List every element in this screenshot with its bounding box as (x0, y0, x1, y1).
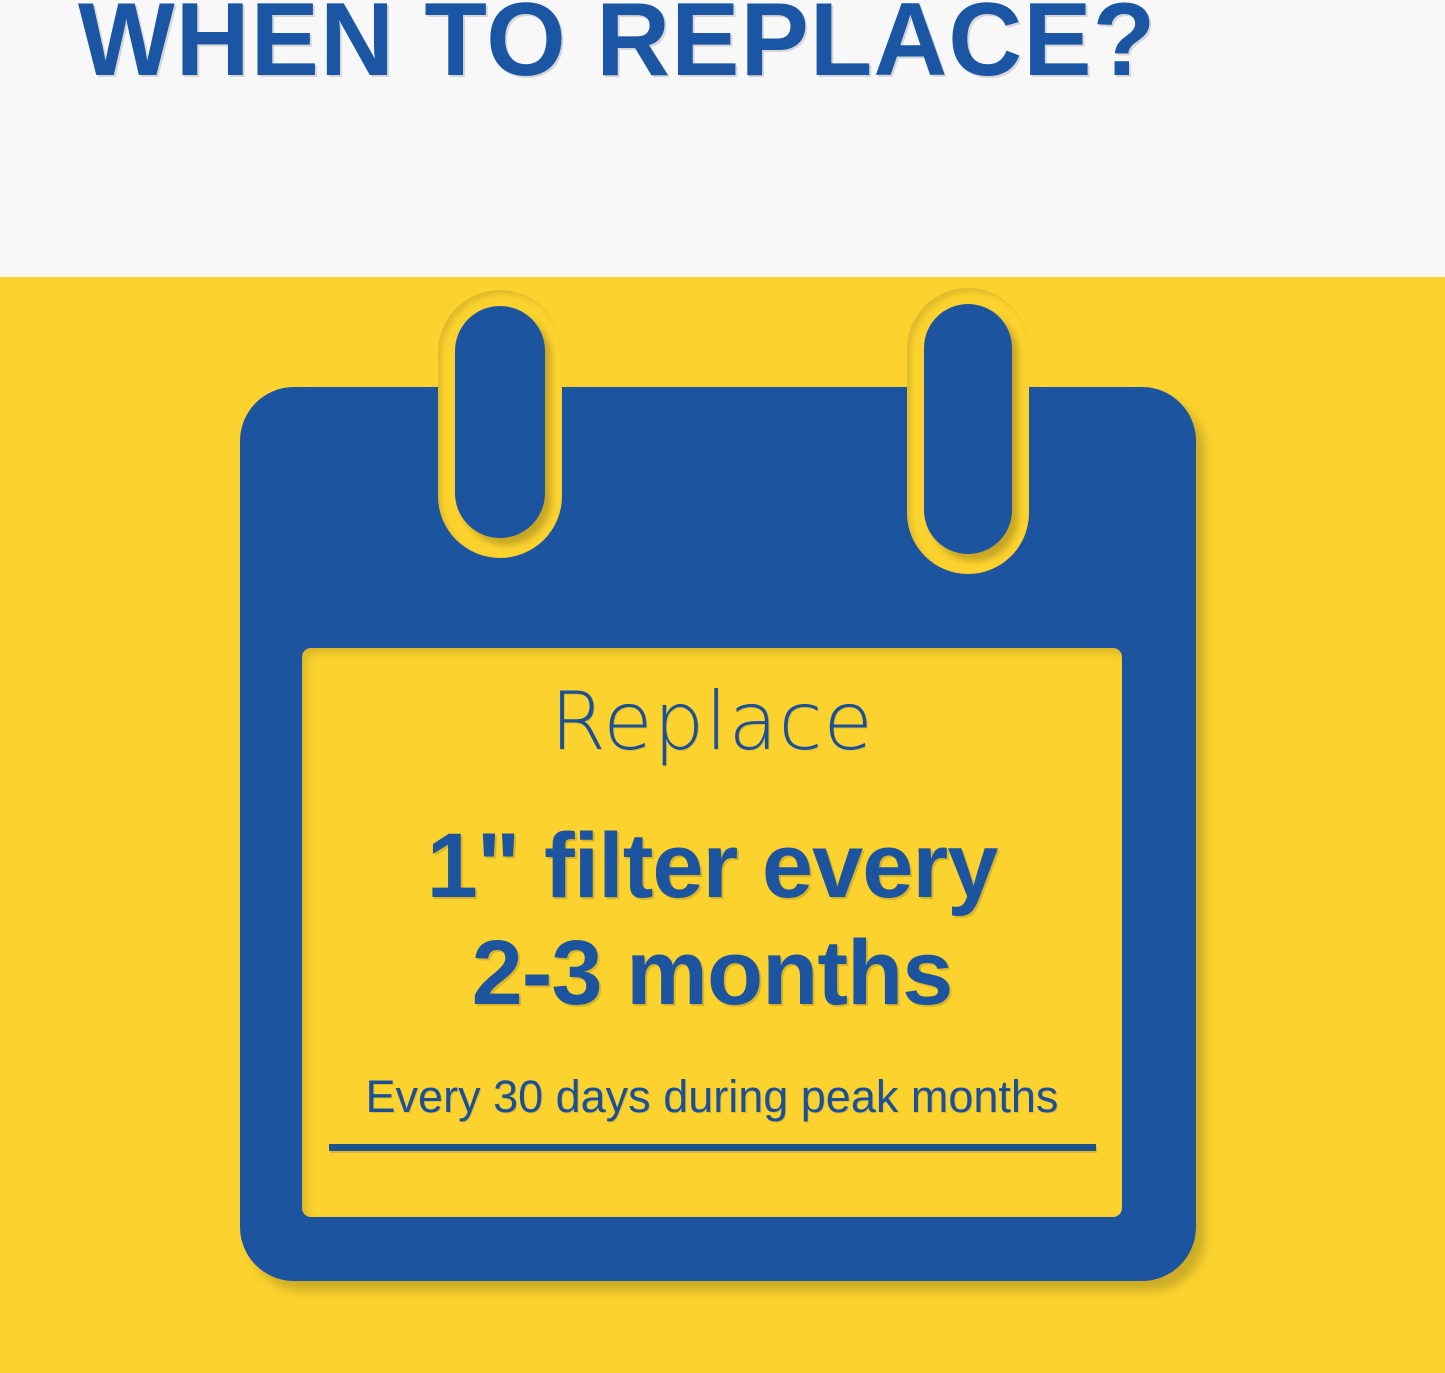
calendar-headline-line-2: 2-3 months (302, 925, 1122, 1021)
calendar-icon: Replace 1" filter every 2-3 months Every… (0, 0, 1445, 1373)
calendar-note-text: Every 30 days during peak months (302, 1071, 1122, 1123)
calendar-ring-left-icon (455, 306, 545, 538)
calendar-ring-right-icon (924, 304, 1012, 554)
calendar-note-underline (329, 1144, 1096, 1151)
infographic-canvas: WHEN TO REPLACE? Replace 1" filter every… (0, 0, 1445, 1373)
calendar-page-content: Replace 1" filter every 2-3 months Every… (302, 648, 1122, 1217)
calendar-kicker-text: Replace (302, 680, 1122, 764)
calendar-headline-line-1: 1" filter every (302, 818, 1122, 914)
